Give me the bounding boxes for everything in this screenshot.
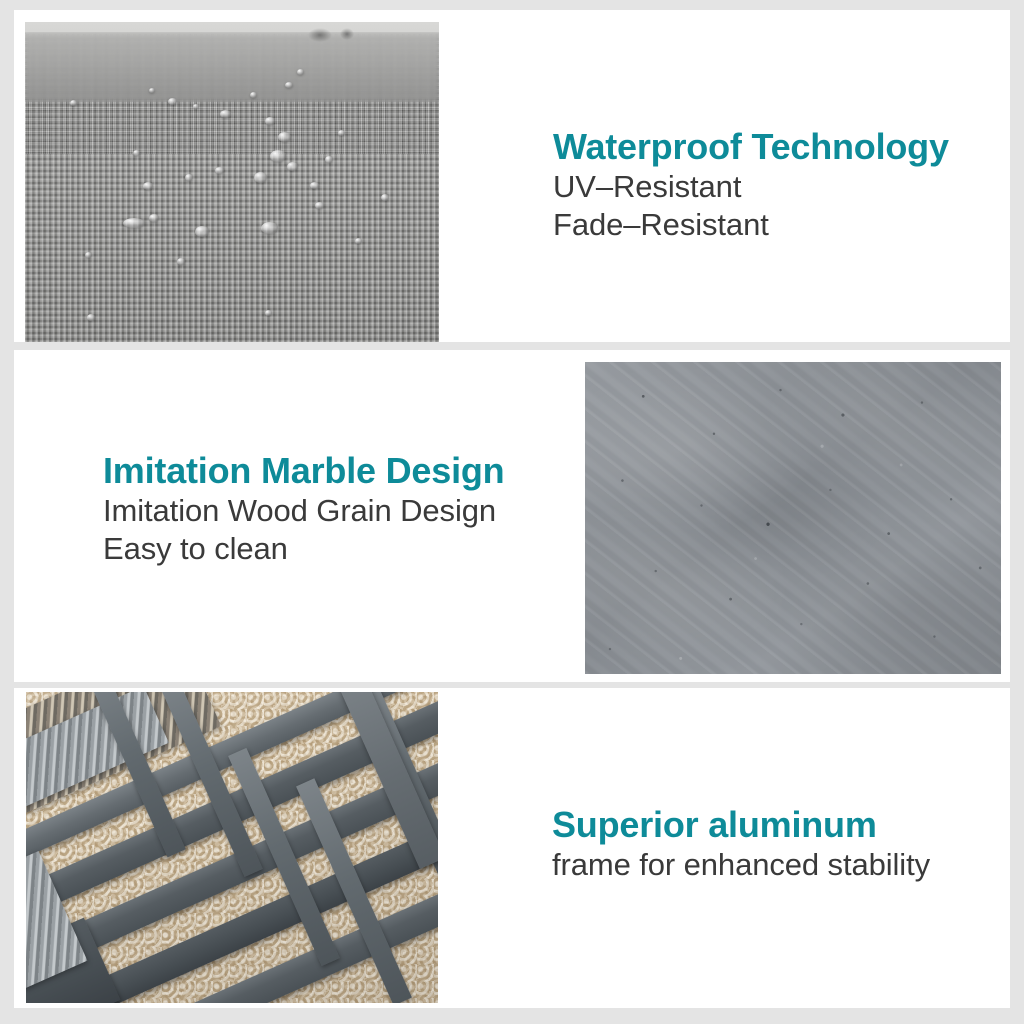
feature-infographic: Waterproof Technology UV–Resistant Fade–… (0, 0, 1024, 1024)
water-droplet (215, 167, 224, 174)
water-droplet (185, 174, 193, 181)
water-droplet (315, 202, 324, 209)
water-droplet (149, 214, 159, 222)
fabric-depth-blur (25, 32, 439, 102)
aluminum-frame-slats-photo (26, 692, 438, 1003)
water-droplet (265, 117, 275, 125)
water-droplet (70, 100, 77, 106)
water-droplet (220, 110, 231, 118)
water-droplet (133, 150, 140, 156)
panel-subline: frame for enhanced stability (552, 846, 930, 884)
feature-panel-waterproof: Waterproof Technology UV–Resistant Fade–… (14, 10, 1010, 342)
background-shadow-spot (340, 28, 354, 40)
feature-panel-aluminum: Superior aluminum frame for enhanced sta… (14, 688, 1010, 1008)
imitation-marble-texture-photo (585, 362, 1001, 674)
waterproof-fabric-droplets-photo (25, 22, 439, 342)
background-shadow-spot (308, 28, 332, 42)
panel-subline: Imitation Wood Grain Design (103, 492, 504, 530)
water-droplet (381, 194, 389, 201)
water-droplet (297, 69, 304, 75)
panel-subline: Easy to clean (103, 530, 504, 568)
water-droplet (149, 88, 155, 93)
water-droplet (261, 222, 278, 234)
water-droplet (287, 162, 298, 171)
water-droplet (87, 314, 95, 321)
feature-panel-marble: Imitation Marble Design Imitation Wood G… (14, 350, 1010, 682)
water-droplet (177, 258, 185, 265)
water-droplet (168, 98, 177, 105)
water-droplet (143, 182, 153, 190)
water-droplet (254, 172, 267, 183)
water-droplet (325, 156, 333, 163)
panel-subline: Fade–Resistant (553, 206, 949, 244)
water-droplet (195, 226, 209, 237)
water-droplet (310, 182, 319, 189)
water-droplet (355, 238, 362, 244)
water-droplet (193, 104, 199, 109)
panel-headline: Imitation Marble Design (103, 450, 504, 492)
water-droplet (338, 130, 345, 136)
water-droplet (278, 132, 291, 142)
panel-headline: Waterproof Technology (553, 126, 949, 168)
water-droplet (285, 82, 293, 88)
waterproof-text-block: Waterproof Technology UV–Resistant Fade–… (553, 126, 949, 244)
water-droplet (265, 310, 272, 316)
aluminum-text-block: Superior aluminum frame for enhanced sta… (552, 804, 930, 884)
panel-subline: UV–Resistant (553, 168, 949, 206)
marble-speckle-texture (585, 362, 1001, 674)
water-droplet (250, 92, 257, 98)
water-droplet (270, 150, 286, 162)
marble-text-block: Imitation Marble Design Imitation Wood G… (103, 450, 504, 568)
panel-headline: Superior aluminum (552, 804, 930, 846)
water-droplet (85, 252, 92, 258)
water-droplet (123, 218, 145, 228)
